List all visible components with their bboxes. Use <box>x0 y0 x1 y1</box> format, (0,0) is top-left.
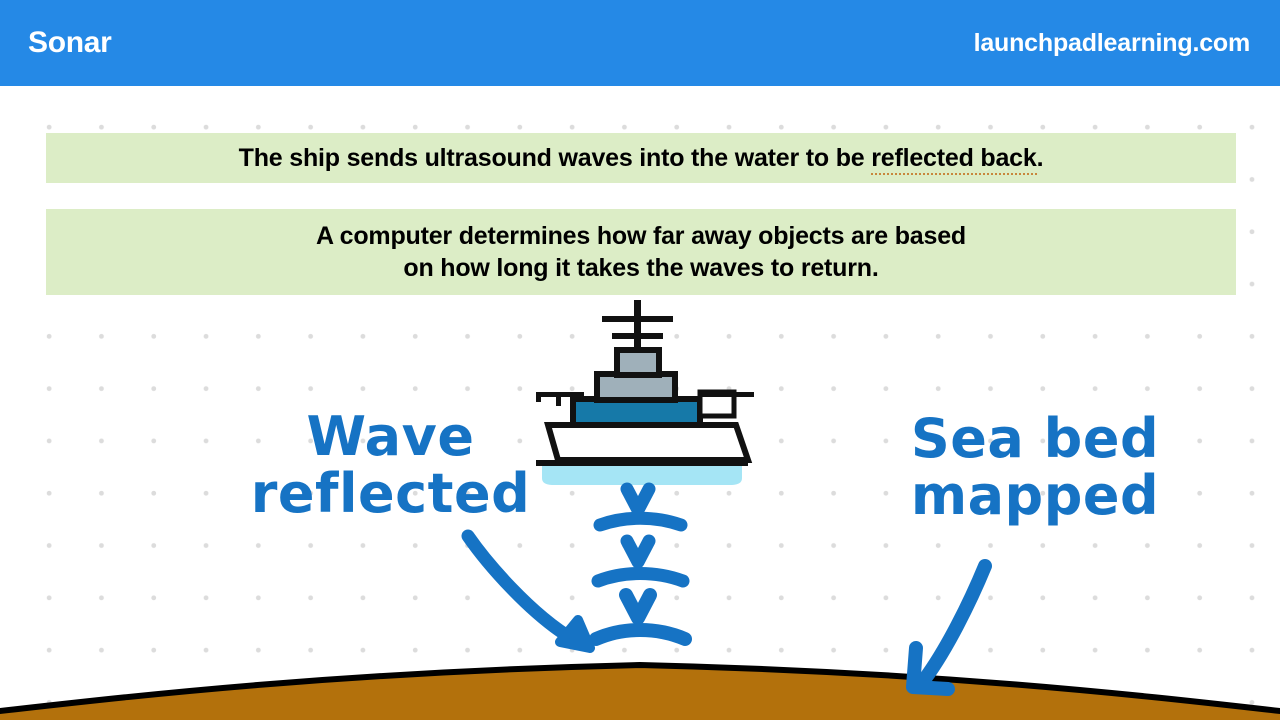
arrow-wave-reflected <box>468 536 590 648</box>
sonar-arc-2 <box>598 574 683 582</box>
ship <box>536 300 754 485</box>
sonar-arc-1 <box>600 518 681 525</box>
page-title: Sonar <box>28 26 112 60</box>
sonar-wave-signal <box>596 489 685 639</box>
ship-hull-submerged-curve <box>543 466 741 484</box>
sonar-arc-3 <box>596 630 685 639</box>
sea-bed <box>0 665 1280 720</box>
sonar-chevron-2 <box>627 541 649 562</box>
ship-starboard-deckhouse <box>700 392 754 416</box>
site-url-label: launchpadlearning.com <box>974 29 1250 58</box>
ship-superstructure-upper <box>617 350 659 375</box>
slide-canvas: Sonar launchpadlearning.com The ship sen… <box>0 0 1280 720</box>
sonar-diagram <box>0 86 1280 720</box>
ship-mast <box>602 300 673 353</box>
sonar-chevron-3 <box>626 595 650 618</box>
sonar-chevron-1 <box>627 489 649 510</box>
header-bar: Sonar launchpadlearning.com <box>0 0 1280 86</box>
arrow-sea-bed-mapped <box>913 566 985 689</box>
label-sea-bed-mapped: Sea bed mapped <box>900 410 1170 524</box>
ship-hull-upper <box>548 425 748 460</box>
label-wave-reflected: Wave reflected <box>248 408 533 522</box>
